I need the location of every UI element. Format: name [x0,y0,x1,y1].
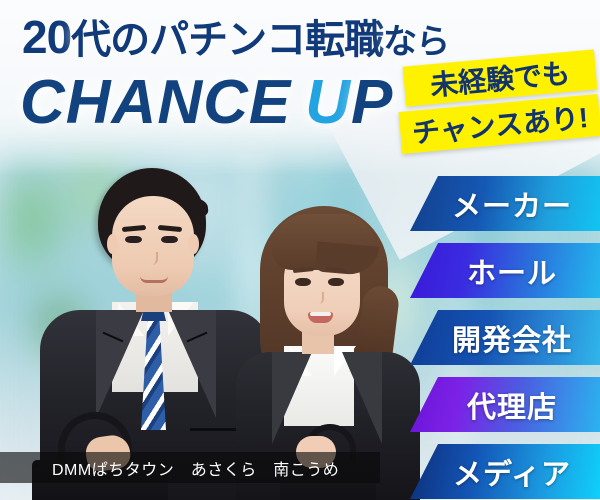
lapel-right [168,310,216,418]
tag-dev-company[interactable]: 開発会社 [410,310,600,365]
headline: 20代のパチンコ転職なら [22,14,449,60]
jacket-pocket [190,428,236,431]
ear-left [107,234,118,254]
lapel-left [272,352,312,444]
eye-right [328,278,344,286]
logo-word-chance: CHANCE [20,68,291,137]
logo-letter-p: P [351,68,393,137]
lapel-left [96,310,144,418]
ear-right [188,234,199,254]
eye-left [295,278,311,286]
category-tag-list: メーカー ホール 開発会社 代理店 メディア [410,176,600,500]
headline-number: 20 [22,11,71,63]
tag-label-maker: メーカー [452,183,572,225]
caption-bar: DMMぱちタウン あさくら 南こうめ [0,452,380,483]
eye-right [161,236,178,243]
tag-agency[interactable]: 代理店 [410,377,600,432]
caption-text: DMMぱちタウン あさくら 南こうめ [52,456,339,480]
photo-people [0,150,420,500]
tag-label-media: メディア [453,451,571,493]
tag-maker[interactable]: メーカー [410,176,600,231]
mouth [140,276,168,283]
tag-media[interactable]: メディア [410,444,600,499]
chance-up-banner[interactable]: 20代のパチンコ転職なら CHANCEUP 未経験でも チャンスあり! メーカー… [0,0,600,500]
bangs [272,214,376,270]
lapel-right [342,352,382,444]
tag-label-dev: 開発会社 [452,317,572,359]
tag-hall[interactable]: ホール [410,243,600,298]
tag-label-hall: ホール [467,250,557,292]
logo-letter-u: U [305,68,351,137]
headline-tail: なら [383,23,449,61]
tag-label-agency: 代理店 [467,384,557,426]
eye-left [125,236,142,243]
headline-main: 代のパチンコ転職 [71,18,383,62]
mouth [308,312,333,323]
chance-up-logo: CHANCEUP [20,72,393,134]
